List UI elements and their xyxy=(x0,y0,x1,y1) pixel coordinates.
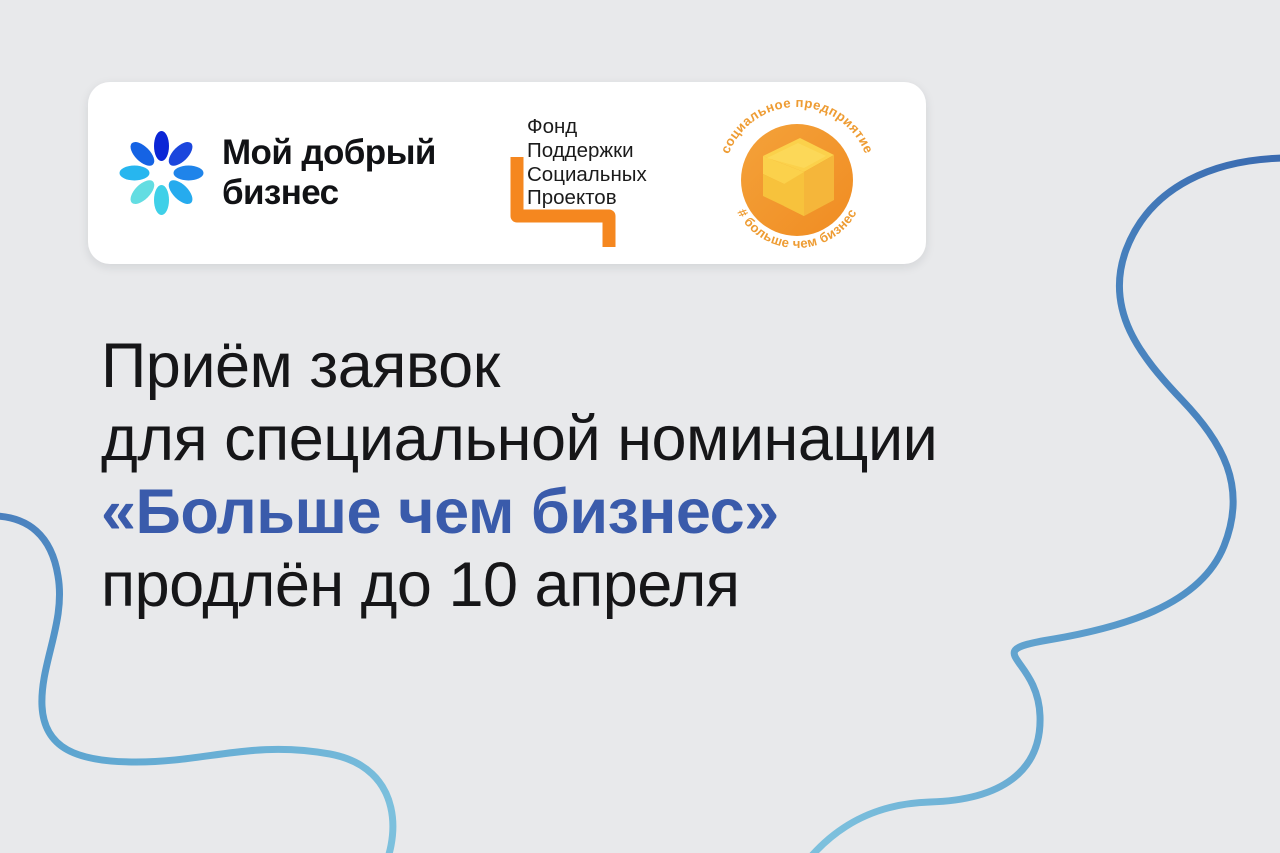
headline-line-1: Приём заявок xyxy=(101,330,937,403)
headline-line-2: для специальной номинации xyxy=(101,403,937,476)
petal-circle-icon xyxy=(117,129,205,217)
logo-moy-dobryy-biznes: Мой добрый бизнес xyxy=(111,110,481,236)
headline: Приём заявок для специальной номинации «… xyxy=(101,330,937,622)
logo-fond-podderzhki: Фонд Поддержки Социальных Проектов xyxy=(498,98,698,248)
logo-socialnoe-predpriyatie: социальное предприятие # больше чем бизн… xyxy=(708,88,886,260)
fond-podderzhki-text: Фонд Поддержки Социальных Проектов xyxy=(527,115,647,210)
circular-badge-icon: социальное предприятие # больше чем бизн… xyxy=(708,88,886,260)
headline-line-3-accent: «Больше чем бизнес» xyxy=(101,476,937,549)
headline-line-4: продлён до 10 апреля xyxy=(101,549,937,622)
moy-dobryy-biznes-wordmark: Мой добрый бизнес xyxy=(222,133,436,213)
logo-card: Мой добрый бизнес Фонд Поддержки Социаль… xyxy=(88,82,926,264)
